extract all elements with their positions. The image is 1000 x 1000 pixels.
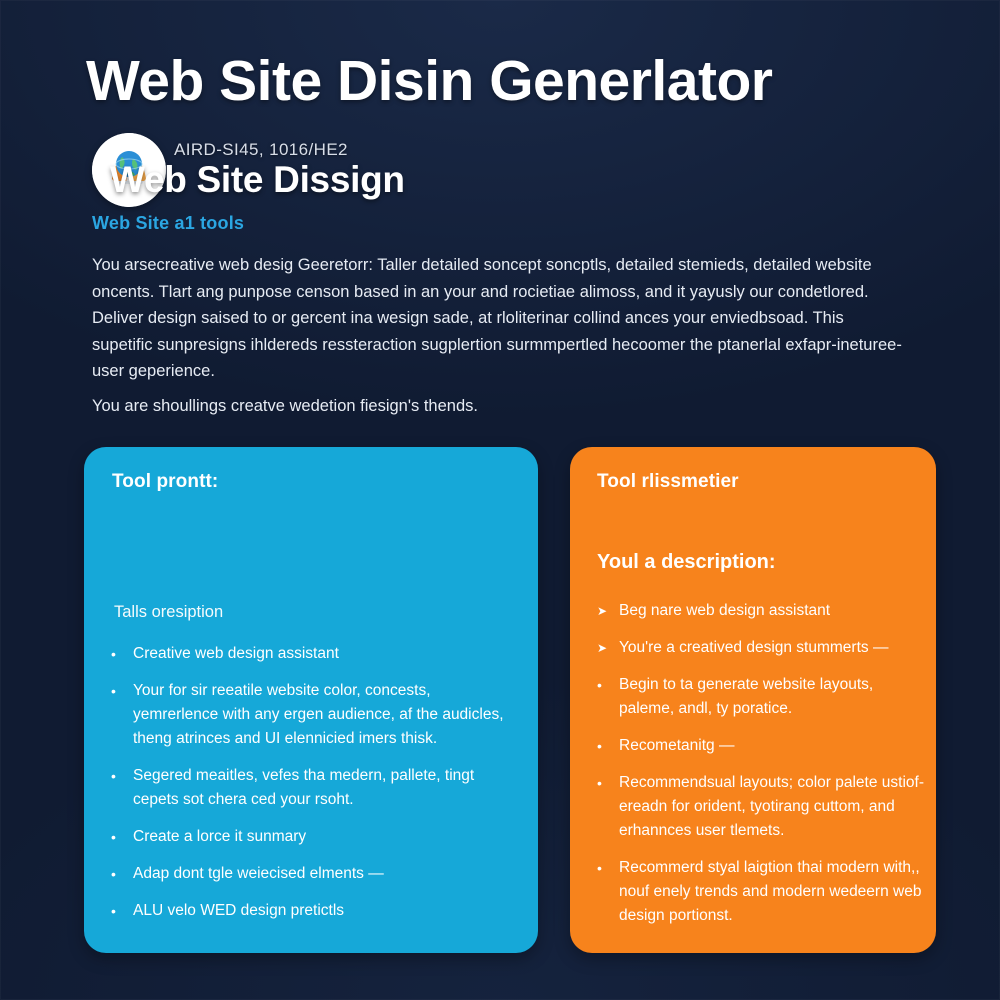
list-item: ➤You're a creatived design stummerts — (597, 636, 927, 660)
list-item-label: Adap dont tgle weiecised elments — (133, 865, 384, 882)
tool-description-card[interactable]: Tool rlissmetier Youl a description: ➤Be… (570, 447, 936, 953)
intro-text-block: You arsecreative web desig Geeretorr: Ta… (92, 252, 908, 419)
list-item-label: Recometanitg — (619, 737, 734, 754)
dot-bullet-icon: • (111, 679, 116, 703)
list-item-label: Creative web design assistant (133, 645, 339, 662)
dot-bullet-icon: • (111, 862, 116, 886)
list-item: •Creative web design assistant (111, 642, 511, 666)
intro-paragraph-2: You are shoullings creatve wedetion fies… (92, 393, 908, 420)
cards-row: Tool prontt: Talls oresiption •Creative … (84, 447, 936, 953)
tool-description-card-title: Tool rlissmetier (597, 471, 739, 493)
tool-prompt-card-title: Tool prontt: (112, 471, 218, 493)
arrow-bullet-icon: ➤ (597, 636, 607, 660)
tool-prompt-card-subtitle: Talls oresiption (114, 603, 223, 622)
list-item: •Recommendsual layouts; color palete ust… (597, 771, 927, 843)
dot-bullet-icon: • (597, 673, 602, 697)
list-item: •Recommerd styal laigtion thai modern wi… (597, 856, 927, 928)
list-item-label: ALU velo WED design pretictls (133, 902, 344, 919)
dot-bullet-icon: • (597, 771, 602, 795)
list-item: •ALU velo WED design pretictls (111, 899, 511, 923)
arrow-bullet-icon: ➤ (597, 599, 607, 623)
list-item-label: Recommendsual layouts; color palete usti… (619, 774, 924, 839)
tool-prompt-card-list: •Creative web design assistant•Your for … (111, 642, 511, 923)
list-item-label: You're a creatived design stummerts — (619, 639, 888, 656)
list-item: ➤Beg nare web design assistant (597, 599, 927, 623)
intro-paragraph-1: You arsecreative web desig Geeretorr: Ta… (92, 252, 908, 385)
tool-description-card-list: ➤Beg nare web design assistant➤You're a … (597, 599, 927, 928)
list-item: •Create a lorce it sunmary (111, 825, 511, 849)
list-item-label: Begin to ta generate website layouts, pa… (619, 676, 873, 717)
list-item-label: Create a lorce it sunmary (133, 828, 306, 845)
dot-bullet-icon: • (597, 856, 602, 880)
dot-bullet-icon: • (111, 825, 116, 849)
tool-prompt-card[interactable]: Tool prontt: Talls oresiption •Creative … (84, 447, 538, 953)
brand-tagline: Web Site a1 tools (92, 213, 244, 234)
list-item: •Your for sir reeatile website color, co… (111, 679, 511, 751)
list-item: •Segered meaitles, vefes tha medern, pal… (111, 764, 511, 812)
list-item-label: Segered meaitles, vefes tha medern, pall… (133, 767, 474, 808)
list-item-label: Recommerd styal laigtion thai modern wit… (619, 859, 921, 924)
brand-meta-code: AIRD-SI45, 1016/HE2 (174, 140, 348, 160)
dot-bullet-icon: • (111, 642, 116, 666)
list-item: •Recometanitg — (597, 734, 927, 758)
dot-bullet-icon: • (111, 764, 116, 788)
list-item: •Begin to ta generate website layouts, p… (597, 673, 927, 721)
dot-bullet-icon: • (597, 734, 602, 758)
poster-page: Web Site Disin Generlator AIRD-SI45, 101… (0, 0, 1000, 1000)
brand-name: Web Site Dissign (110, 159, 405, 201)
dot-bullet-icon: • (111, 899, 116, 923)
list-item-label: Your for sir reeatile website color, con… (133, 682, 504, 747)
brand-block: AIRD-SI45, 1016/HE2 Web Site Dissign Web… (92, 133, 912, 243)
list-item: •Adap dont tgle weiecised elments — (111, 862, 511, 886)
page-title: Web Site Disin Generlator (86, 50, 936, 114)
tool-description-card-subtitle: Youl a description: (597, 551, 776, 574)
list-item-label: Beg nare web design assistant (619, 602, 830, 619)
